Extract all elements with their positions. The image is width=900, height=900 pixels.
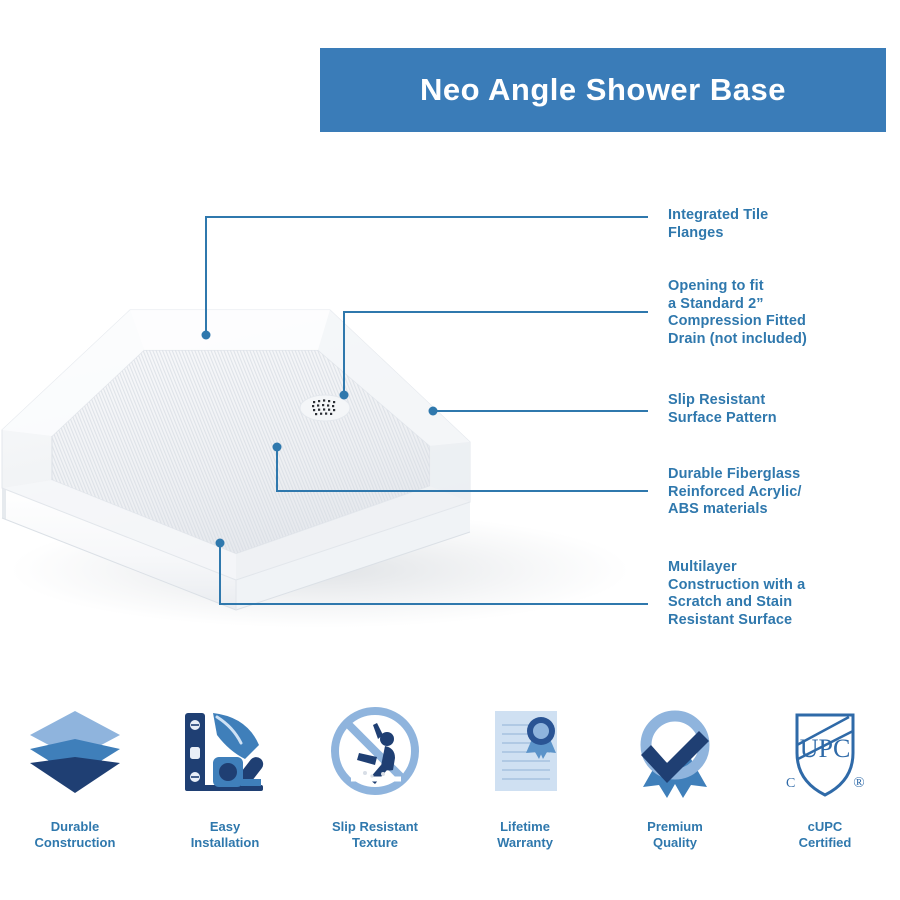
certificate-icon [475, 695, 575, 807]
upc-shield-text: UPC [800, 734, 851, 763]
page-title: Neo Angle Shower Base [420, 72, 786, 108]
upc-shield-registered-mark: ® [853, 775, 864, 791]
feature-label-lifetime-warranty: Lifetime Warranty [497, 819, 553, 851]
callout-label-multilayer-construction: Multilayer Construction with a Scratch a… [668, 559, 805, 629]
trowel-level-icon [175, 695, 275, 807]
feature-label-durable-construction: Durable Construction [35, 819, 116, 851]
layers-icon [25, 695, 125, 807]
feature-lifetime-warranty: Lifetime Warranty [450, 695, 600, 880]
feature-durable-construction: Durable Construction [0, 695, 150, 880]
feature-easy-installation: Easy Installation [150, 695, 300, 880]
callout-label-slip-resistant-surface: Slip Resistant Surface Pattern [668, 392, 777, 427]
upc-shield-c-mark: C [786, 776, 795, 791]
feature-cupc-certified: UPC C ® cUPC Certified [750, 695, 900, 880]
no-slip-icon [325, 695, 425, 807]
feature-slip-resistant: Slip Resistant Texture [300, 695, 450, 880]
check-rosette-icon [625, 695, 725, 807]
feature-label-premium-quality: Premium Quality [647, 819, 703, 851]
infographic-page: Neo Angle Shower Base [0, 0, 900, 900]
feature-label-slip-resistant: Slip Resistant Texture [332, 819, 418, 851]
upc-shield-icon: UPC C ® [775, 695, 875, 807]
feature-label-easy-installation: Easy Installation [191, 819, 260, 851]
callout-label-integrated-tile-flanges: Integrated Tile Flanges [668, 207, 768, 242]
feature-badges-row: Durable Construction [0, 695, 900, 880]
header-banner: Neo Angle Shower Base [320, 48, 886, 132]
drain-grate [300, 395, 350, 421]
callout-label-durable-materials: Durable Fiberglass Reinforced Acrylic/ A… [668, 466, 802, 519]
callout-label-drain-opening: Opening to fit a Standard 2” Compression… [668, 278, 807, 348]
feature-premium-quality: Premium Quality [600, 695, 750, 880]
feature-label-cupc-certified: cUPC Certified [799, 819, 852, 851]
